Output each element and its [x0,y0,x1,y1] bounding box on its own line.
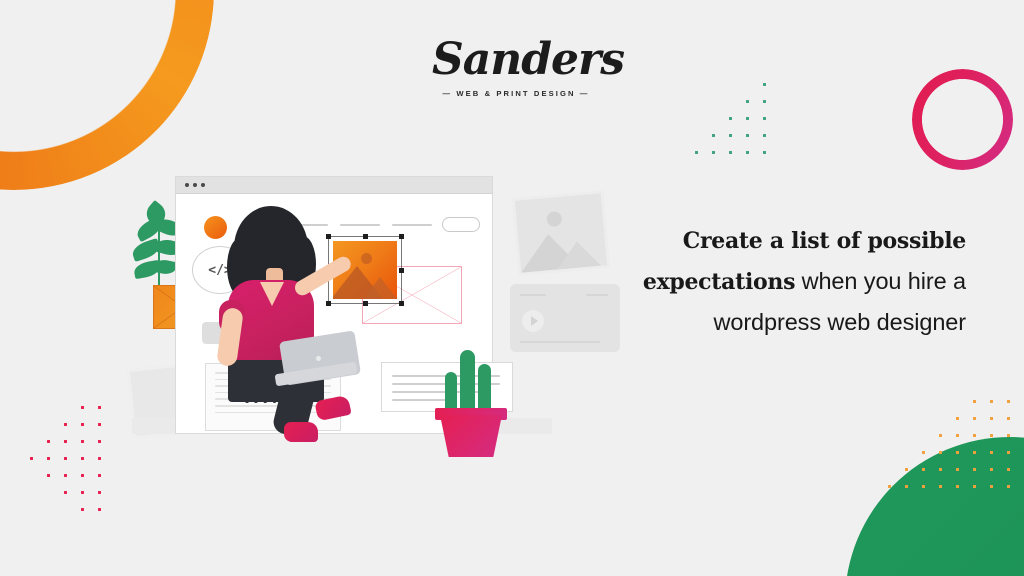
decorative-dot [98,440,101,443]
decorative-dot [47,474,50,477]
decorative-dot [973,417,976,420]
decorative-dot [990,468,993,471]
resize-handle-n[interactable] [363,234,368,239]
decorative-dot [81,406,84,409]
resize-handle-nw[interactable] [326,234,331,239]
decorative-dot [64,491,67,494]
decorative-dot [763,117,766,120]
decorative-dot [973,468,976,471]
decorative-dot [98,491,101,494]
decorative-dot [64,440,67,443]
decorative-dot [956,417,959,420]
decorative-dot [729,151,732,154]
resize-handle-s[interactable] [363,301,368,306]
web-designer-illustration: </> [120,160,580,490]
decorative-dot [956,434,959,437]
resize-handle-e[interactable] [399,268,404,273]
decorative-dot [956,485,959,488]
decorative-dot [81,491,84,494]
decorative-dot [973,400,976,403]
decorative-dot [1007,451,1010,454]
flower-pot [440,415,502,457]
orange-dot-triangle [888,400,1024,502]
decorative-dot [746,100,749,103]
decorative-dot [729,117,732,120]
nav-button-outline[interactable] [442,217,480,232]
decorative-dot [81,423,84,426]
decorative-dot [905,485,908,488]
decorative-dot [47,440,50,443]
image-sun-icon [361,253,372,264]
decorative-dot [64,423,67,426]
decorative-dot [956,468,959,471]
decorative-dot [939,434,942,437]
decorative-dot [30,457,33,460]
logo-wordmark: Sanders [432,36,600,84]
decorative-dot [939,451,942,454]
resize-handle-sw[interactable] [326,301,331,306]
decorative-dot [746,134,749,137]
shoe-left [284,422,318,442]
brand-logo: Sanders — WEB & PRINT DESIGN — [432,36,600,98]
window-dot-red [185,183,189,187]
decorative-dot [695,151,698,154]
decorative-dot [712,134,715,137]
decorative-dot [98,508,101,511]
image-mountain-icon-2 [363,277,397,299]
logo-tagline: — WEB & PRINT DESIGN — [432,89,600,98]
placeholder-sun-icon [546,211,562,227]
decorative-dot [939,485,942,488]
decorative-dot [922,451,925,454]
decorative-dot [81,508,84,511]
decorative-dot [1007,434,1010,437]
browser-titlebar [176,177,492,194]
decorative-dot [1007,468,1010,471]
resize-handle-ne[interactable] [399,234,404,239]
decorative-dot [712,151,715,154]
decorative-dot [990,417,993,420]
decorative-dot [763,100,766,103]
video-player-card [510,284,620,352]
decorative-dot [98,457,101,460]
decorative-dot [973,451,976,454]
play-icon [522,310,544,332]
decorative-dot [763,134,766,137]
decorative-dot [888,485,891,488]
decorative-dot [956,451,959,454]
decorative-dot [746,117,749,120]
decorative-dot [98,474,101,477]
orange-dot [204,216,227,239]
decorative-dot [990,485,993,488]
pink-ring [912,69,1013,170]
decorative-dot [990,400,993,403]
gray-image-placeholder [512,190,610,276]
green-dot-triangle [695,83,780,168]
placeholder-mountain-icon-2 [555,240,601,270]
laptop-logo [316,356,321,361]
decorative-dot [990,434,993,437]
decorative-dot [81,440,84,443]
decorative-dot [1007,417,1010,420]
decorative-dot [47,457,50,460]
resize-handle-se[interactable] [399,301,404,306]
decorative-dot [763,151,766,154]
decorative-dot [81,457,84,460]
decorative-dot [1007,485,1010,488]
decorative-dot [990,451,993,454]
decorative-dot [64,457,67,460]
poster-canvas: Sanders — WEB & PRINT DESIGN — Create a … [0,0,1024,576]
decorative-dot [939,468,942,471]
window-dot-green [201,183,205,187]
decorative-dot [905,468,908,471]
decorative-dot [1007,400,1010,403]
decorative-dot [81,474,84,477]
decorative-dot [922,485,925,488]
decorative-dot [922,468,925,471]
decorative-dot [746,151,749,154]
decorative-dot [729,134,732,137]
decorative-dot [973,485,976,488]
decorative-dot [98,406,101,409]
decorative-dot [64,474,67,477]
decorative-dot [98,423,101,426]
window-dot-yellow [193,183,197,187]
decorative-dot [763,83,766,86]
pink-dot-diamond [30,406,115,525]
decorative-dot [973,434,976,437]
